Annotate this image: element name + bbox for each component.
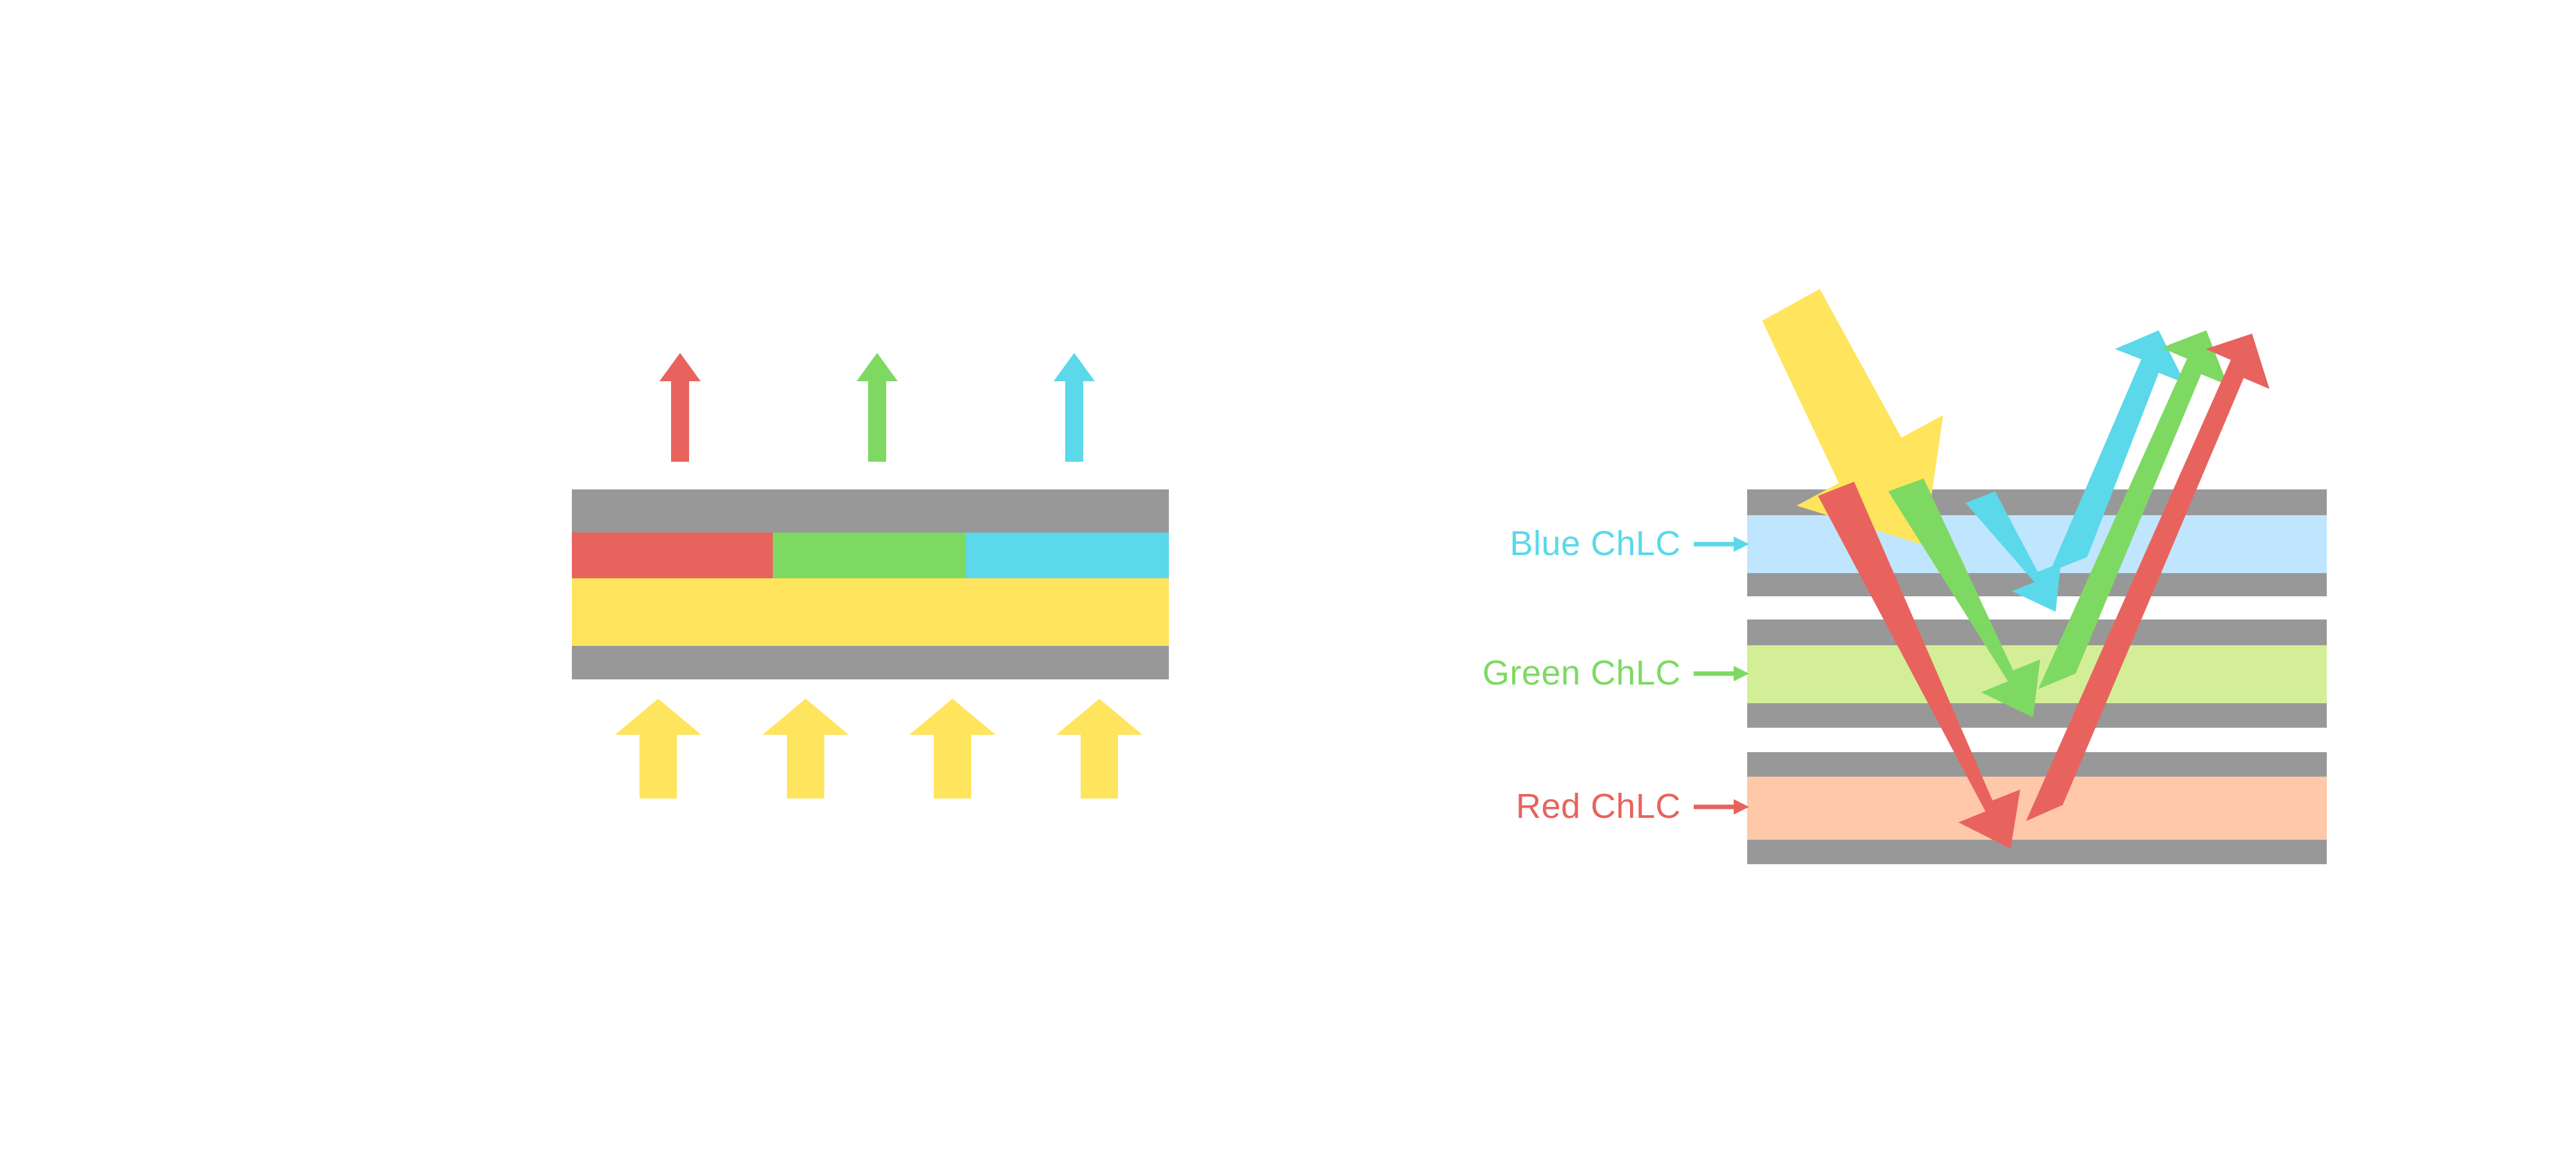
green-label-arrow-icon [1694, 666, 1749, 681]
red-chlc-label[interactable]: Red ChLC [1516, 787, 1749, 826]
red-chlc-label-text: Red ChLC [1516, 787, 1681, 826]
blue-label-arrow-icon [1694, 536, 1749, 552]
green-chlc-label[interactable]: Green ChLC [1482, 654, 1749, 692]
red-label-arrow-icon [1694, 799, 1749, 815]
blue-chlc-label[interactable]: Blue ChLC [1510, 524, 1749, 563]
diagram-canvas: Blue ChLC Green ChLC Red ChLC [0, 0, 2576, 1154]
green-chlc-label-text: Green ChLC [1482, 654, 1681, 692]
chlc-label-group: Blue ChLC Green ChLC Red ChLC [0, 0, 2576, 1154]
blue-chlc-label-text: Blue ChLC [1510, 524, 1681, 563]
